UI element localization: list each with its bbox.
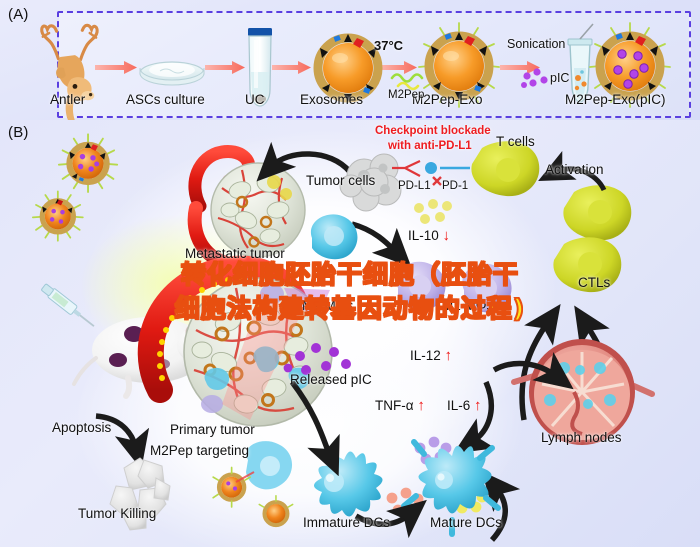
checkpoint-blockade-line1: Checkpoint blockade [375,125,491,137]
il-6-text: IL-6 [447,398,470,413]
immature-dc-icon [314,451,383,516]
panel-a-step-label-antler: Antler [50,92,85,107]
ctls-label: CTLs [578,275,610,290]
m2pep-exosome-pic-icon [33,191,83,240]
panel-a-letter: (A) [8,6,29,23]
m1-macrophage-icon [396,262,445,311]
checkpoint-blockade-line2: with anti-PD-L1 [388,140,472,152]
panel-a-step-label-m2pep-exo-pic: M2Pep-Exo(pIC) [565,92,666,107]
t-cells-label: T cells [496,134,535,149]
lymph-nodes-label: Lymph nodes [541,430,622,445]
il-10-arrow: ↓ [443,227,451,244]
pic-annotation: pIC [550,71,569,85]
arrow-tumor-to-metastatic [272,154,350,172]
il-12-label: IL-12 ↑ [410,348,452,363]
figure-root: (A) [0,0,700,547]
t-cell-icon [471,141,539,196]
arrow-dc-to-ctl [522,322,548,420]
pd-1-label: PD-1 [442,180,468,192]
il-6-particles-icon [451,485,488,514]
il-12-text: IL-12 [410,348,441,363]
activation-label: Activation [545,162,604,177]
metastatic-tumor-label: Metastatic tumor [185,246,285,261]
mature-dcs-label: Mature DCs [430,515,502,530]
il-12-arrow: ↑ [445,347,453,364]
pd-l1-label: PD-L1 [398,180,431,192]
il-10-particles-icon [414,199,452,224]
m2pep-exosome-pic-icon [59,134,117,192]
m2-macrophages-label: M2 MΦs [302,298,353,313]
il-10-text: IL-10 [408,228,439,243]
arrow-maturedc-cytokines [492,488,505,540]
panel-a: (A) [0,0,700,120]
arrow-tumor-to-immature-dc [292,382,330,456]
primary-tumor-label: Primary tumor [170,422,255,437]
panel-b-letter: (B) [8,124,29,141]
ctl-cell-icon [563,185,631,240]
m2pep-targeting-label: M2Pep targeting [150,443,249,458]
arrow-il10 [352,224,396,252]
sonication-annotation: Sonication [507,37,565,51]
mouse-icon [74,317,235,396]
tumor-killing-label: Tumor Killing [78,506,156,521]
tnf-alpha-text: TNF-α [375,398,414,413]
arrow-dc-to-lymphnode [494,363,556,376]
tnf-alpha-particles-icon [387,488,424,516]
temperature-annotation: 37°C [374,38,403,53]
released-pic-particles-icon [284,343,351,375]
arrow-lymphnode-to-ctl [586,324,612,420]
primary-tumor-icon [151,269,332,426]
panel-a-step-label-ascs-culture: ASCs culture [126,92,205,107]
il-12-particles-icon [415,437,452,465]
panel-a-step-label-uc: UC [245,92,265,107]
tnf-alpha-label: TNF-α ↑ [375,398,425,413]
released-pic-label: Released pIC [290,372,372,387]
lymph-nodes-icon [514,342,652,442]
il-6-label: IL-6 ↑ [447,398,482,413]
tumor-cells-label: Tumor cells [306,173,375,188]
il-6-arrow: ↑ [474,397,482,414]
panel-b: (B) [0,120,700,547]
m1-macrophages-label: M1 MΦs [442,298,493,313]
m2pep-peptide-annotation: M2Pep [388,89,424,101]
il-10-label: IL-10 ↓ [408,228,450,243]
apoptosis-label: Apoptosis [52,420,111,435]
m2-macrophage-icon [311,214,358,259]
tnf-alpha-arrow: ↑ [417,397,425,414]
immature-dcs-label: Immature DCs [303,515,390,530]
syringe-icon [40,282,97,330]
panel-a-step-label-exosomes: Exosomes [300,92,363,107]
tumor-beam [222,292,300,420]
